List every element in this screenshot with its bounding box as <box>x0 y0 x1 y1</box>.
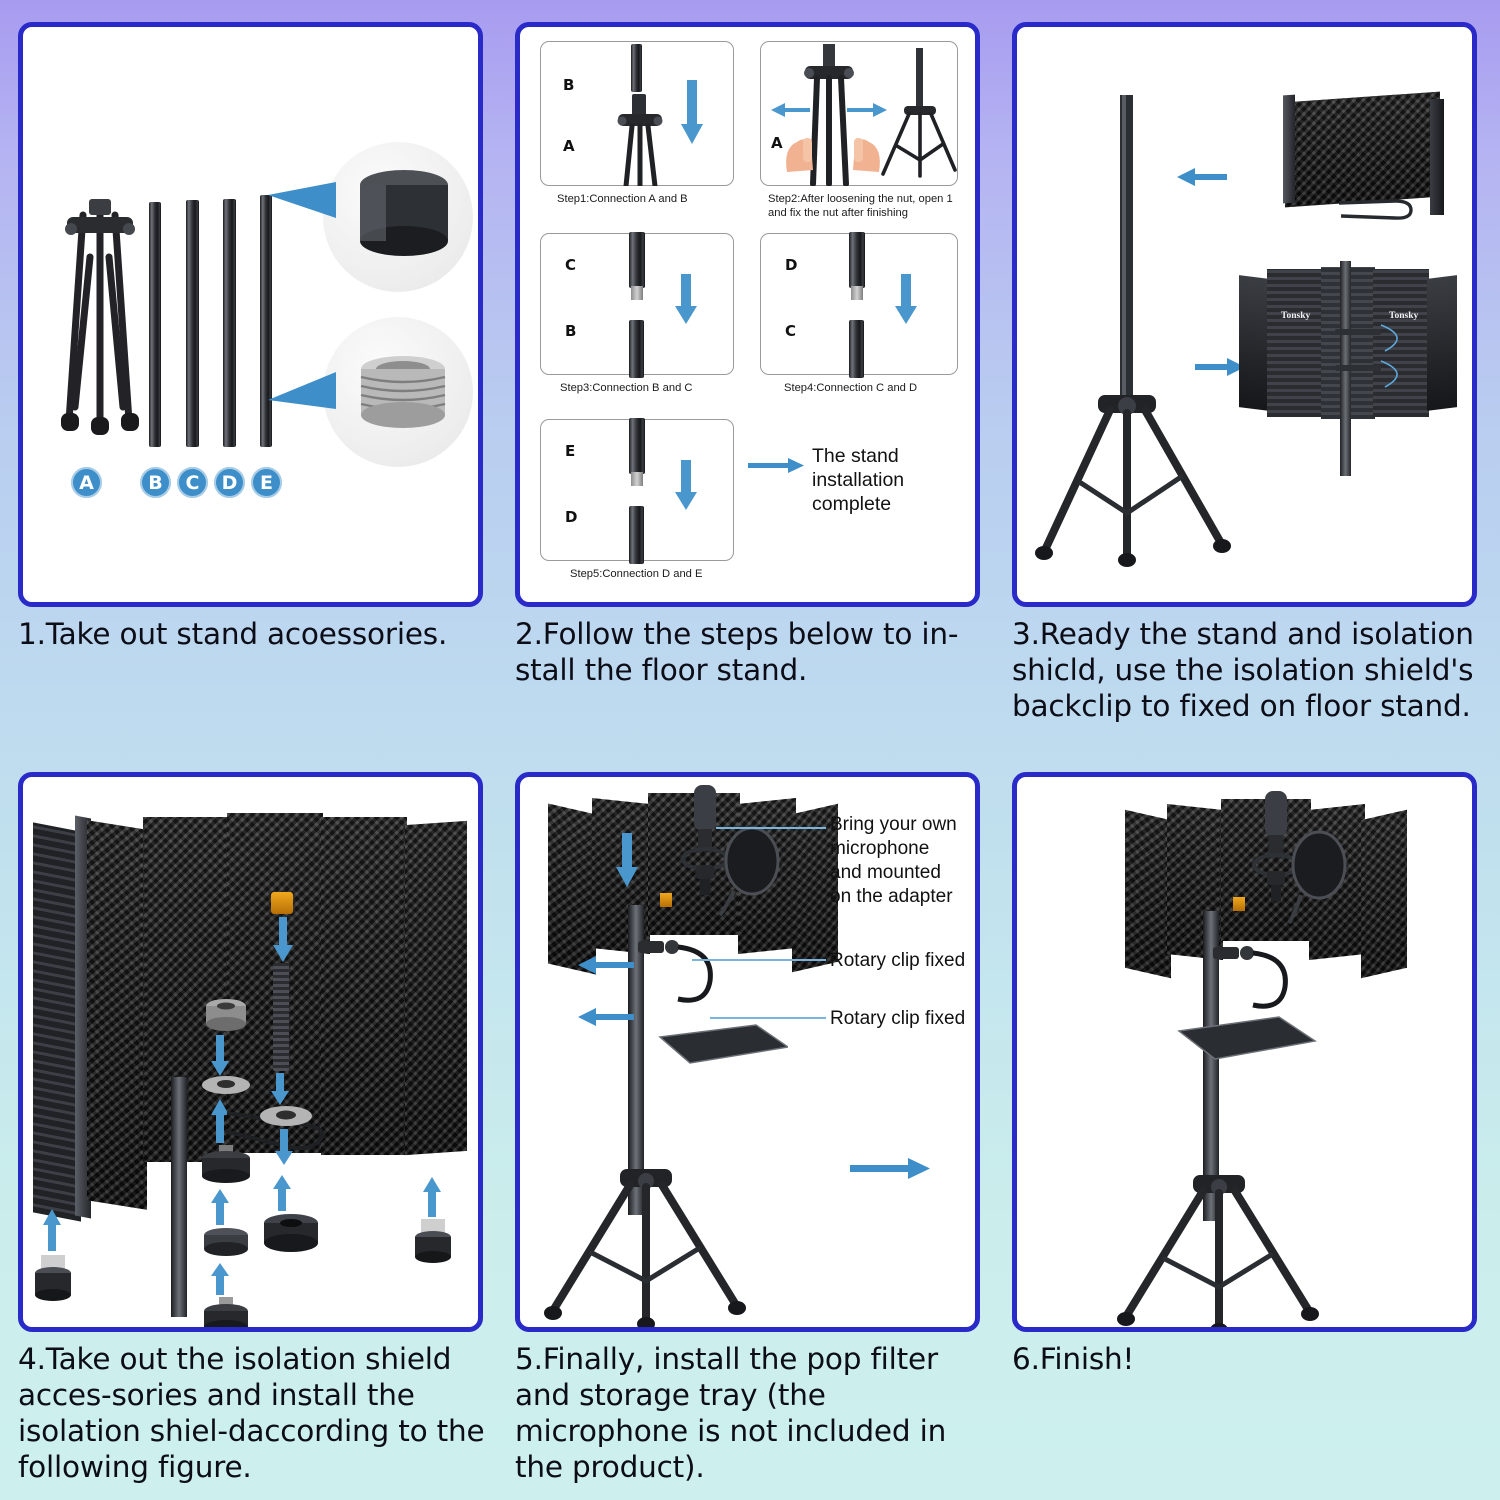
pop-filter-icon <box>718 825 782 917</box>
step3-label-bottom: B <box>565 322 576 340</box>
nut-up-arrow-icon-3 <box>211 1263 229 1295</box>
step3-label-top: C <box>565 256 576 274</box>
p6-tripod-base-icon <box>1111 1175 1325 1332</box>
leader-line-mic <box>716 827 826 829</box>
step5-label-top: E <box>565 442 575 460</box>
screw-adapter-part-left <box>31 1255 75 1303</box>
complete-arrow-icon <box>748 457 804 475</box>
step3-caption: Step3:Connection B and C <box>560 381 692 395</box>
folded-isolation-shield <box>1285 92 1440 208</box>
p6-storage-tray-icon <box>1159 1005 1319 1067</box>
shield-to-stand-arrow-icon <box>1177 167 1227 187</box>
panel-3-figure: Tonsky Tonsky <box>1012 22 1477 607</box>
step1-label-bottom: A <box>563 137 575 155</box>
step3-upper-tube <box>629 232 645 288</box>
leader-line-clip-1 <box>692 959 826 961</box>
mounted-isolation-shield: Tonsky Tonsky <box>1239 267 1457 419</box>
step3-lower-tube <box>629 320 644 378</box>
washer-down-arrow-icon <box>211 1035 229 1077</box>
p5-orange-knob <box>660 893 672 907</box>
step4-lower-tube <box>849 320 864 378</box>
step5-caption: Step5:Connection D and E <box>570 567 702 581</box>
foam-panel-1 <box>87 820 147 1210</box>
panel-1-figure: A B C D E <box>18 22 483 607</box>
step3-thread-tip <box>631 286 643 300</box>
annotation-rotary-clip-1: Rotary clip fixed <box>830 949 980 973</box>
panel-6-caption: 6.Finish! <box>1012 1342 1482 1378</box>
tube-part-c <box>186 200 199 447</box>
step5-box: E D <box>540 419 734 561</box>
nut-up-arrow-icon-2 <box>211 1189 229 1225</box>
big-nut-up-arrow-icon <box>273 1175 291 1211</box>
foam-panel-4 <box>321 817 407 1155</box>
step4-down-arrow-icon <box>895 274 917 326</box>
washer-part-2 <box>259 1105 313 1127</box>
end-cap-detail-icon <box>353 167 455 267</box>
thread-leader-icon <box>268 367 338 412</box>
clip-motion-hint-icon <box>1377 317 1417 393</box>
panel-3: Tonsky Tonsky 3.Ready the stand and isol… <box>994 0 1491 750</box>
rotary-clip-upper-icon <box>638 937 738 1009</box>
part-badge-d: D <box>214 467 245 498</box>
part-badge-b: B <box>140 467 171 498</box>
step1-upper-tube <box>631 44 642 92</box>
washer-part-1 <box>201 1075 251 1095</box>
panel-5-figure: Bring your own microphone and mounted on… <box>515 772 980 1332</box>
step4-upper-tube <box>849 232 865 288</box>
panel-2-figure: B A Step1:Connection A and B <box>515 22 980 607</box>
leader-line-clip-2 <box>710 1017 826 1019</box>
instruction-grid: A B C D E 1.Take out stand acoessories. … <box>0 0 1500 1500</box>
step4-label-top: D <box>785 256 797 274</box>
step1-label-top: B <box>563 76 574 94</box>
rotary-clip-arrow-2-icon <box>578 1007 634 1027</box>
step3-box: C B <box>540 233 734 375</box>
foam-panel-5 <box>405 821 467 1155</box>
stand-complete-note: The stand installation complete <box>812 445 972 516</box>
step1-tripod-icon <box>614 94 666 186</box>
step5-upper-tube <box>629 418 645 474</box>
part-badge-a: A <box>71 467 102 498</box>
nut-down-arrow-icon <box>275 1129 293 1165</box>
step5-lower-tube <box>629 506 644 564</box>
p5-tripod-base-icon <box>540 1169 752 1329</box>
panel-4-caption: 4.Take out the isolation shield acces-so… <box>18 1342 490 1486</box>
endcap-leader-icon <box>268 182 338 227</box>
step2-caption: Step2:After loosening the nut, open 1 an… <box>768 192 968 220</box>
adapter-rod-part <box>273 963 289 1071</box>
proceed-to-finish-arrow-icon <box>850 1157 930 1179</box>
p6-shield-wing-right <box>1361 810 1407 979</box>
step4-thread-tip <box>851 286 863 300</box>
p5-shield-wing-left <box>548 803 596 974</box>
bottom-adapter-up-arrow-icon <box>43 1209 61 1251</box>
step4-label-bottom: C <box>785 322 796 340</box>
annotation-rotary-clip-2: Rotary clip fixed <box>830 1007 980 1031</box>
threaded-screw-detail-icon <box>355 355 451 437</box>
panel-1: A B C D E 1.Take out stand acoessories. <box>0 0 497 750</box>
step1-box: B A <box>540 41 734 186</box>
panel-3-caption: 3.Ready the stand and isolation shicld, … <box>1012 617 1482 725</box>
step5-thread-tip <box>631 472 643 486</box>
step4-box: D C <box>760 233 958 375</box>
panel-6-figure <box>1012 772 1477 1332</box>
step2-open-tripod-icon <box>879 48 959 184</box>
panel-2: B A Step1:Connection A and B <box>497 0 994 750</box>
panel-1-caption: 1.Take out stand acoessories. <box>18 617 490 653</box>
storage-tray-icon <box>638 1013 788 1071</box>
panel-4: 4.Take out the isolation shield acces-so… <box>0 750 497 1500</box>
rotary-clip-arrow-1-icon <box>578 955 634 975</box>
step2-box: A <box>760 41 958 186</box>
hands-icon <box>781 114 885 176</box>
tube-part-d <box>223 199 236 447</box>
knurled-ring-part <box>203 1227 249 1259</box>
screw-adapter-part-right <box>411 1219 455 1265</box>
p6-shield-wing-left <box>1125 810 1171 979</box>
knob-down-arrow-icon <box>273 917 293 963</box>
p6-pop-filter-icon <box>1285 829 1349 925</box>
shield-left-vent-panel <box>33 822 81 1221</box>
panel-4-figure <box>18 772 483 1332</box>
step1-caption: Step1:Connection A and B <box>557 192 747 206</box>
step4-caption: Step4:Connection C and D <box>784 381 917 395</box>
step5-down-arrow-icon <box>675 460 697 512</box>
stand-to-shield-arrow-icon <box>1195 357 1245 377</box>
shield-backclip-icon <box>1337 197 1417 223</box>
step1-down-arrow-icon <box>681 80 703 146</box>
folded-tripod-illustration <box>45 197 155 447</box>
large-knurled-nut-part <box>263 1213 319 1253</box>
knurled-nut-part-1 <box>205 999 247 1033</box>
adapter-up-arrow-icon <box>423 1177 441 1217</box>
p6-orange-knob <box>1233 897 1245 911</box>
part-badge-e: E <box>251 467 282 498</box>
panel-2-caption: 2.Follow the steps below to in-stall the… <box>515 617 987 689</box>
panel-5: Bring your own microphone and mounted on… <box>497 750 994 1500</box>
brand-logo-left: Tonsky <box>1281 311 1310 321</box>
shield-right-edge <box>1430 99 1444 215</box>
orange-knob-part <box>271 892 293 914</box>
shield-left-edge <box>1283 95 1295 204</box>
thumb-screw-part <box>203 1297 249 1332</box>
panel-6: 6.Finish! <box>994 750 1491 1500</box>
step5-label-bottom: D <box>565 508 577 526</box>
annotation-microphone: Bring your own microphone and mounted on… <box>830 813 965 909</box>
panel-5-caption: 5.Finally, install the pop filter and st… <box>515 1342 987 1486</box>
rod-down-arrow-icon <box>271 1073 289 1105</box>
part-badge-c: C <box>177 467 208 498</box>
tube-part-b <box>149 202 161 447</box>
p5-shield-down-arrow-icon <box>616 833 638 887</box>
step3-down-arrow-icon <box>675 274 697 326</box>
panel4-center-pole <box>171 1077 187 1317</box>
